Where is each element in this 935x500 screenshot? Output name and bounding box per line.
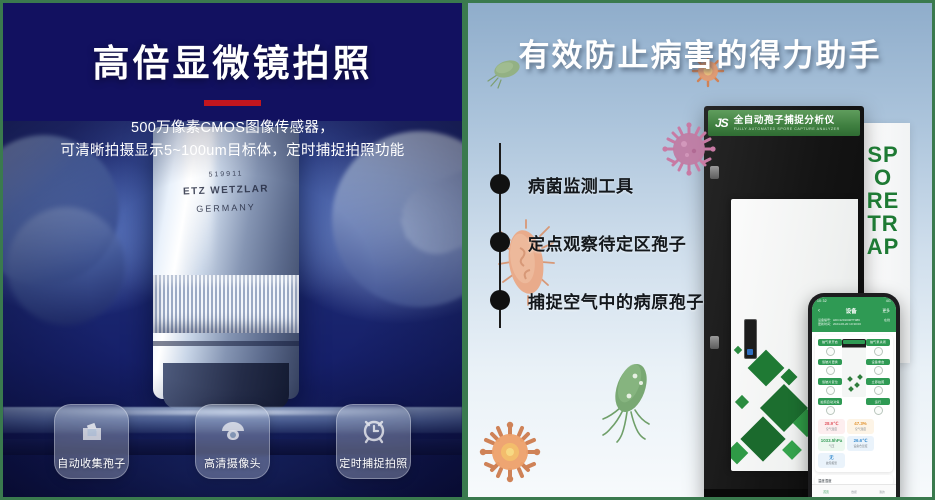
control-button[interactable]: 抽气泵关闭 (866, 339, 890, 346)
left-subtitle-line2: 可清晰拍摄显示5~100um目标体，定时捕捉拍照功能 (3, 140, 462, 163)
status-time: 10:32 (817, 299, 827, 303)
control-knob-icon[interactable] (874, 386, 883, 395)
right-title: 有效防止病害的得力助手 (468, 30, 932, 75)
stat-card: 26.6℃ 设备仓温度 (847, 436, 874, 451)
control-button[interactable]: 立即拍照 (866, 378, 890, 385)
virus-particle-orange-icon (476, 418, 544, 491)
control-knob-icon[interactable] (826, 406, 835, 415)
phone-stat-cards: 28.9℃ 空气温度 47.3% 空气湿度 1033.5hPa 气压 26. (818, 419, 890, 468)
dome-camera-icon (218, 405, 248, 455)
control-knob-icon[interactable] (826, 347, 835, 356)
phone-nav-row: ‹ 设备 更多 (818, 307, 890, 315)
phone-page-title: 设备 (846, 307, 857, 315)
stat-caption: 气压 (819, 444, 844, 448)
device-diagram-band (843, 340, 865, 344)
bullet-label: 捕捉空气中的病原孢子 (528, 288, 704, 313)
machine-band-text: 全自动孢子捕捉分析仪 FULLY AUTOMATED SPORE CAPTURE… (734, 115, 840, 132)
machine-hinge-bottom (710, 336, 719, 349)
phone-app-header: ‹ 设备 更多 设备编号：HDC1201040TT089 更新时间：2024-0… (812, 305, 896, 332)
stat-caption: 故障报警 (819, 461, 844, 465)
right-panel: 有效防止病害的得力助手 (465, 0, 935, 500)
left-subtitle: 500万像素CMOS图像传感器， 可清晰拍摄显示5~100um目标体，定时捕捉拍… (3, 117, 462, 163)
stat-card: 无 故障报警 (818, 453, 845, 468)
phone-meta-left: 设备编号：HDC1201040TT089 更新时间：2024-06-20 10:… (818, 318, 861, 327)
control-button[interactable]: 抽气泵开启 (818, 339, 842, 346)
control-column-right: 抽气泵关闭 设备重启 立即拍照 (866, 339, 890, 415)
phone-control-grid: 抽气泵开启 载玻片更换 载玻片复位 (818, 339, 890, 415)
bullet-label: 病菌监测工具 (528, 172, 634, 197)
badge-hd-camera[interactable]: 高清摄像头 (195, 404, 270, 479)
control-button[interactable]: 设备重启 (866, 359, 890, 366)
stat-card: 28.9℃ 空气温度 (818, 419, 845, 434)
control-knob-icon[interactable] (826, 366, 835, 375)
alarm-clock-icon (359, 405, 389, 455)
control-button[interactable]: 载玻片更换 (818, 359, 842, 366)
title-divider (204, 100, 261, 106)
update-time-text: 更新时间：2024-06-20 10:30:00 (818, 322, 861, 326)
bullet-dot-icon (490, 290, 510, 310)
control-column-left: 抽气泵开启 载玻片更换 载玻片复位 (818, 339, 842, 415)
stat-card: 47.3% 空气湿度 (847, 419, 874, 434)
bullet-dot-icon (490, 232, 510, 252)
control-knob-icon[interactable] (826, 386, 835, 395)
stat-card: 1033.5hPa 气压 (818, 436, 845, 451)
promo-banner: 519911 ETZ WETZLAR GERMANY 高倍显微镜拍照 500万像… (0, 0, 935, 500)
badge-auto-spore-collect[interactable]: 自动收集孢子 (54, 404, 129, 479)
control-button[interactable]: 运行 (866, 398, 890, 405)
bullet-item: 定点观察待定区孢子 (490, 213, 704, 271)
bullet-dot-icon (490, 174, 510, 194)
bacterium-green-icon (593, 358, 665, 453)
badge-label: 高清摄像头 (204, 455, 261, 471)
tab-profile[interactable]: 我的 (879, 490, 885, 494)
stat-caption: 设备仓温度 (848, 444, 873, 448)
phone-screen: 10:32 4G ‹ 设备 更多 设备编号：HDC1201040TT089 更新… (812, 297, 896, 499)
left-header: 高倍显微镜拍照 500万像素CMOS图像传感器， 可清晰拍摄显示5~100um目… (3, 3, 462, 163)
machine-name-en: FULLY AUTOMATED SPORE CAPTURE ANALYZER (734, 126, 840, 132)
left-panel: 519911 ETZ WETZLAR GERMANY 高倍显微镜拍照 500万像… (0, 0, 465, 500)
left-title: 高倍显微镜拍照 (3, 33, 462, 87)
phone-header-action[interactable]: 更多 (882, 309, 890, 314)
badge-timed-capture[interactable]: 定时捕捉拍照 (336, 404, 411, 479)
mobile-app-preview: 10:32 4G ‹ 设备 更多 设备编号：HDC1201040TT089 更新… (808, 293, 900, 500)
phone-control-card: 抽气泵开启 载玻片更换 载玻片复位 (815, 335, 893, 472)
control-knob-icon[interactable] (874, 406, 883, 415)
tab-home[interactable]: 首页 (823, 490, 829, 494)
virus-particle-pink-icon (658, 118, 720, 185)
spore-collect-icon (77, 405, 107, 455)
feature-badges: 自动收集孢子 高清摄像头 (3, 404, 462, 479)
stat-caption: 空气湿度 (848, 427, 873, 431)
device-status-badge: 在线 (884, 318, 890, 322)
spore-trap-side-text: SPORE TRAP (866, 143, 900, 258)
bullet-label: 定点观察待定区孢子 (528, 230, 686, 255)
device-diagram-icon (842, 339, 866, 397)
control-button[interactable]: 载玻片复位 (818, 378, 842, 385)
bullet-item: 捕捉空气中的病原孢子 (490, 271, 704, 329)
machine-header-band: JS 全自动孢子捕捉分析仪 FULLY AUTOMATED SPORE CAPT… (708, 110, 860, 136)
phone-device-meta: 设备编号：HDC1201040TT089 更新时间：2024-06-20 10:… (818, 318, 890, 327)
machine-name-cn: 全自动孢子捕捉分析仪 (734, 115, 840, 126)
control-knob-icon[interactable] (874, 366, 883, 375)
phone-status-bar: 10:32 4G (812, 297, 896, 305)
control-knob-icon[interactable] (874, 347, 883, 356)
stat-caption: 空气温度 (819, 427, 844, 431)
chevron-left-icon[interactable]: ‹ (818, 308, 820, 315)
badge-label: 自动收集孢子 (57, 455, 125, 471)
status-network: 4G (886, 299, 891, 303)
control-button[interactable]: 拍照自动对焦 (818, 398, 842, 405)
left-subtitle-line1: 500万像素CMOS图像传感器， (3, 117, 462, 140)
badge-label: 定时捕捉拍照 (339, 455, 407, 471)
phone-tab-bar: 首页 数据 我的 (812, 484, 896, 499)
tab-data[interactable]: 数据 (851, 490, 857, 494)
